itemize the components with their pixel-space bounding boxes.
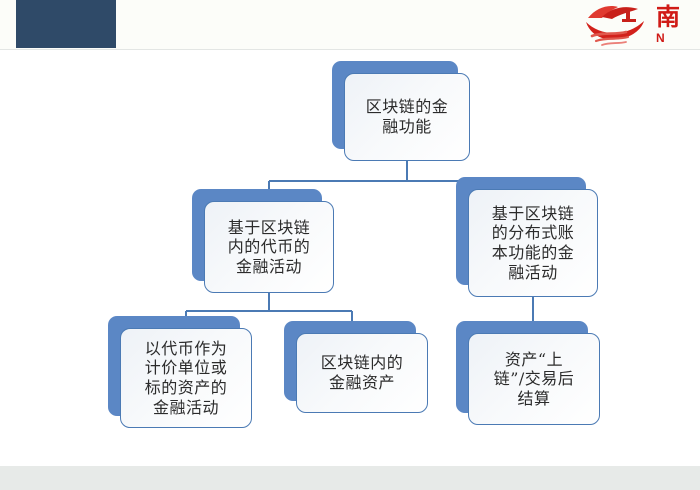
node-label: 以代币作为 计价单位或 标的资产的 金融活动 [139,339,234,417]
slide-footer-strip [0,466,700,490]
node-asset-tokenization-settlement[interactable]: 资产“上 链”/交易后 结算 [456,321,588,413]
node-card: 基于区块链 的分布式账 本功能的金 融活动 [468,189,598,297]
slide-header-band: 南 N [0,0,700,50]
logo-wordmark-en: N [656,32,700,44]
node-token-as-unit-of-account[interactable]: 以代币作为 计价单位或 标的资产的 金融活动 [108,316,240,416]
university-logo: 南 N [582,2,700,50]
node-card: 区块链的金 融功能 [344,73,470,161]
node-card: 区块链内的 金融资产 [296,333,428,413]
node-label: 区块链的金 融功能 [360,97,455,136]
node-label: 基于区块链 内的代币的 金融活动 [222,218,317,277]
university-crest-icon [582,2,654,48]
node-label: 资产“上 链”/交易后 结算 [488,350,581,409]
node-card: 资产“上 链”/交易后 结算 [468,333,600,425]
slide-canvas: 南 N [0,0,700,490]
logo-wordmark-cn: 南 [656,5,700,29]
node-label: 区块链内的 金融资产 [315,353,410,392]
logo-wordmark: 南 N [656,5,700,44]
node-token-finance[interactable]: 基于区块链 内的代币的 金融活动 [192,189,322,281]
node-card: 以代币作为 计价单位或 标的资产的 金融活动 [120,328,252,428]
node-distributed-ledger-finance[interactable]: 基于区块链 的分布式账 本功能的金 融活动 [456,177,586,285]
blockchain-finance-tree-diagram: 区块链的金 融功能 基于区块链 内的代币的 金融活动 基于区块链 的分布式账 本… [0,49,700,466]
node-card: 基于区块链 内的代币的 金融活动 [204,201,334,293]
node-on-chain-financial-asset[interactable]: 区块链内的 金融资产 [284,321,416,401]
node-label: 基于区块链 的分布式账 本功能的金 融活动 [486,204,581,282]
node-root[interactable]: 区块链的金 融功能 [332,61,458,149]
header-color-block [16,0,116,48]
